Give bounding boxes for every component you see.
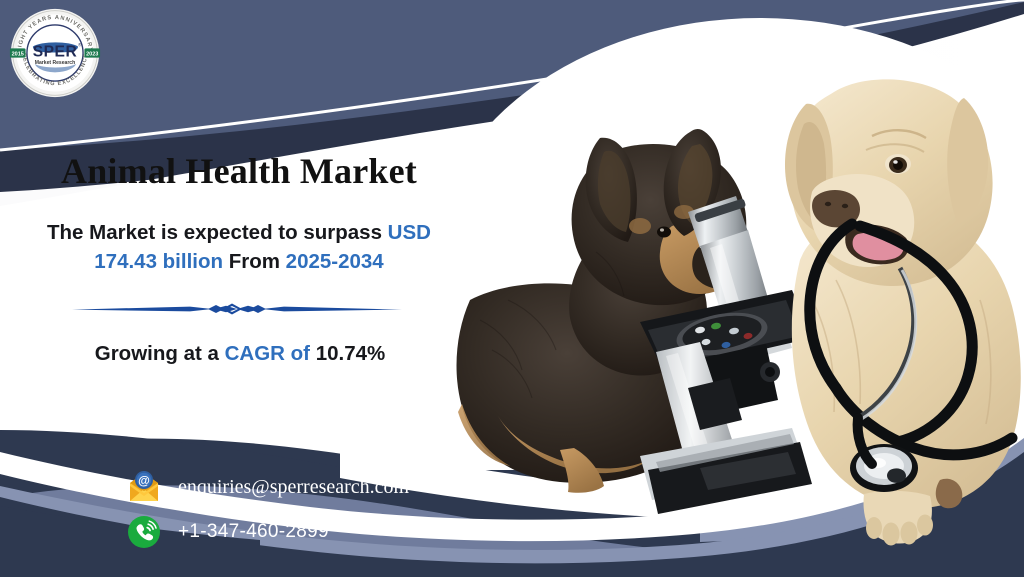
headline-block: Animal Health Market The Market is expec… (0, 152, 470, 366)
decorative-divider (72, 297, 402, 321)
cagr-label: CAGR of (225, 342, 316, 365)
logo-year-end: 2023 (86, 51, 98, 57)
logo-tagline: Market Research (35, 60, 75, 66)
contact-row-phone[interactable]: +1-347-460-2899 (126, 511, 409, 553)
contact-block: @ enquiries@sperresearch.com +1-347-460-… (126, 466, 409, 553)
logo-year-start: 2015 (12, 51, 24, 57)
forecast-text-part2: From (223, 250, 286, 273)
forecast-text-part1: The Market is expected to surpass (47, 221, 388, 244)
page-title: Animal Health Market (0, 152, 470, 192)
sper-logo[interactable]: SPER Market Research ® EIGHT YEARS ANNIV… (9, 7, 101, 99)
contact-email[interactable]: enquiries@sperresearch.com (178, 476, 409, 499)
phone-call-icon (126, 514, 162, 550)
market-forecast-statement: The Market is expected to surpass USD 17… (0, 218, 470, 277)
logo-year-end-badge: 2023 (84, 48, 100, 57)
cagr-value: 10.74% (316, 342, 386, 365)
cagr-prefix: Growing at a (95, 342, 225, 365)
marketing-banner: SPER Market Research ® EIGHT YEARS ANNIV… (0, 0, 1024, 577)
cagr-statement: Growing at a CAGR of 10.74% (0, 342, 470, 366)
contact-phone[interactable]: +1-347-460-2899 (178, 521, 329, 543)
svg-text:@: @ (138, 474, 150, 488)
logo-name: SPER (33, 44, 77, 61)
forecast-period: 2025-2034 (286, 250, 384, 273)
contact-row-email[interactable]: @ enquiries@sperresearch.com (126, 466, 409, 508)
logo-year-start-badge: 2015 (10, 48, 26, 57)
envelope-at-icon: @ (126, 469, 162, 505)
